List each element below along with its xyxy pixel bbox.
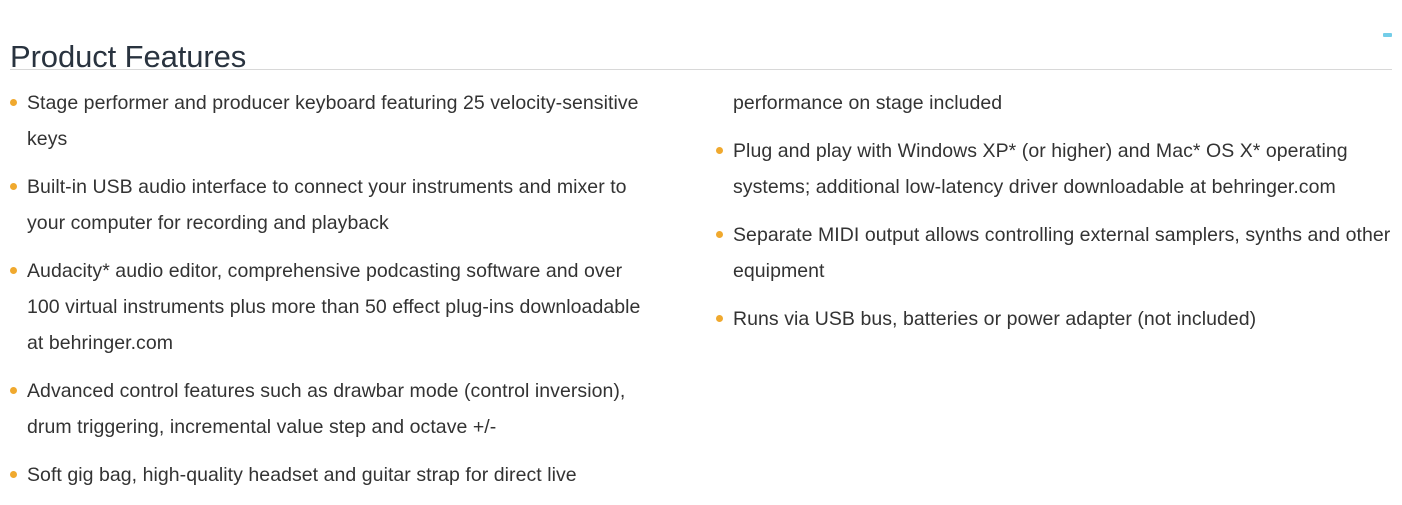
corner-artifact-icon [1383, 33, 1392, 37]
list-item-text: performance on stage included [733, 92, 1002, 114]
list-item: Advanced control features such as drawba… [10, 373, 656, 445]
bullet-dot-icon [716, 315, 723, 322]
list-item-text: Soft gig bag, high-quality headset and g… [27, 464, 577, 486]
bullet-dot-icon [10, 267, 17, 274]
heading-divider [10, 69, 1392, 70]
list-item: Soft gig bag, high-quality headset and g… [10, 457, 656, 493]
bullet-dot-icon [10, 387, 17, 394]
list-item-text: Runs via USB bus, batteries or power ada… [733, 308, 1256, 330]
list-item-text: Built-in USB audio interface to connect … [27, 176, 627, 234]
list-item-continuation: performance on stage included [716, 85, 1392, 121]
list-item-text: Audacity* audio editor, comprehensive po… [27, 260, 640, 354]
page-title: Product Features [10, 37, 246, 77]
list-item: Stage performer and producer keyboard fe… [10, 85, 656, 157]
feature-list-right: performance on stage included Plug and p… [716, 85, 1392, 337]
bullet-dot-icon [10, 471, 17, 478]
list-item-text: Plug and play with Windows XP* (or highe… [733, 140, 1348, 198]
list-item-text: Advanced control features such as drawba… [27, 380, 625, 438]
bullet-dot-icon [10, 99, 17, 106]
list-item: Separate MIDI output allows controlling … [716, 217, 1392, 289]
product-features-section: Product Features Stage performer and pro… [0, 0, 1402, 503]
bullet-dot-icon [716, 147, 723, 154]
feature-list-left: Stage performer and producer keyboard fe… [10, 85, 656, 493]
list-item-text: Separate MIDI output allows controlling … [733, 224, 1390, 282]
list-item: Runs via USB bus, batteries or power ada… [716, 301, 1392, 337]
list-item-text: Stage performer and producer keyboard fe… [27, 92, 639, 150]
bullet-dot-icon [10, 183, 17, 190]
list-item: Audacity* audio editor, comprehensive po… [10, 253, 656, 361]
features-columns: Stage performer and producer keyboard fe… [0, 85, 1402, 503]
list-item: Plug and play with Windows XP* (or highe… [716, 133, 1392, 205]
bullet-dot-icon [716, 231, 723, 238]
features-column-left: Stage performer and producer keyboard fe… [0, 85, 701, 505]
list-item: Built-in USB audio interface to connect … [10, 169, 656, 241]
